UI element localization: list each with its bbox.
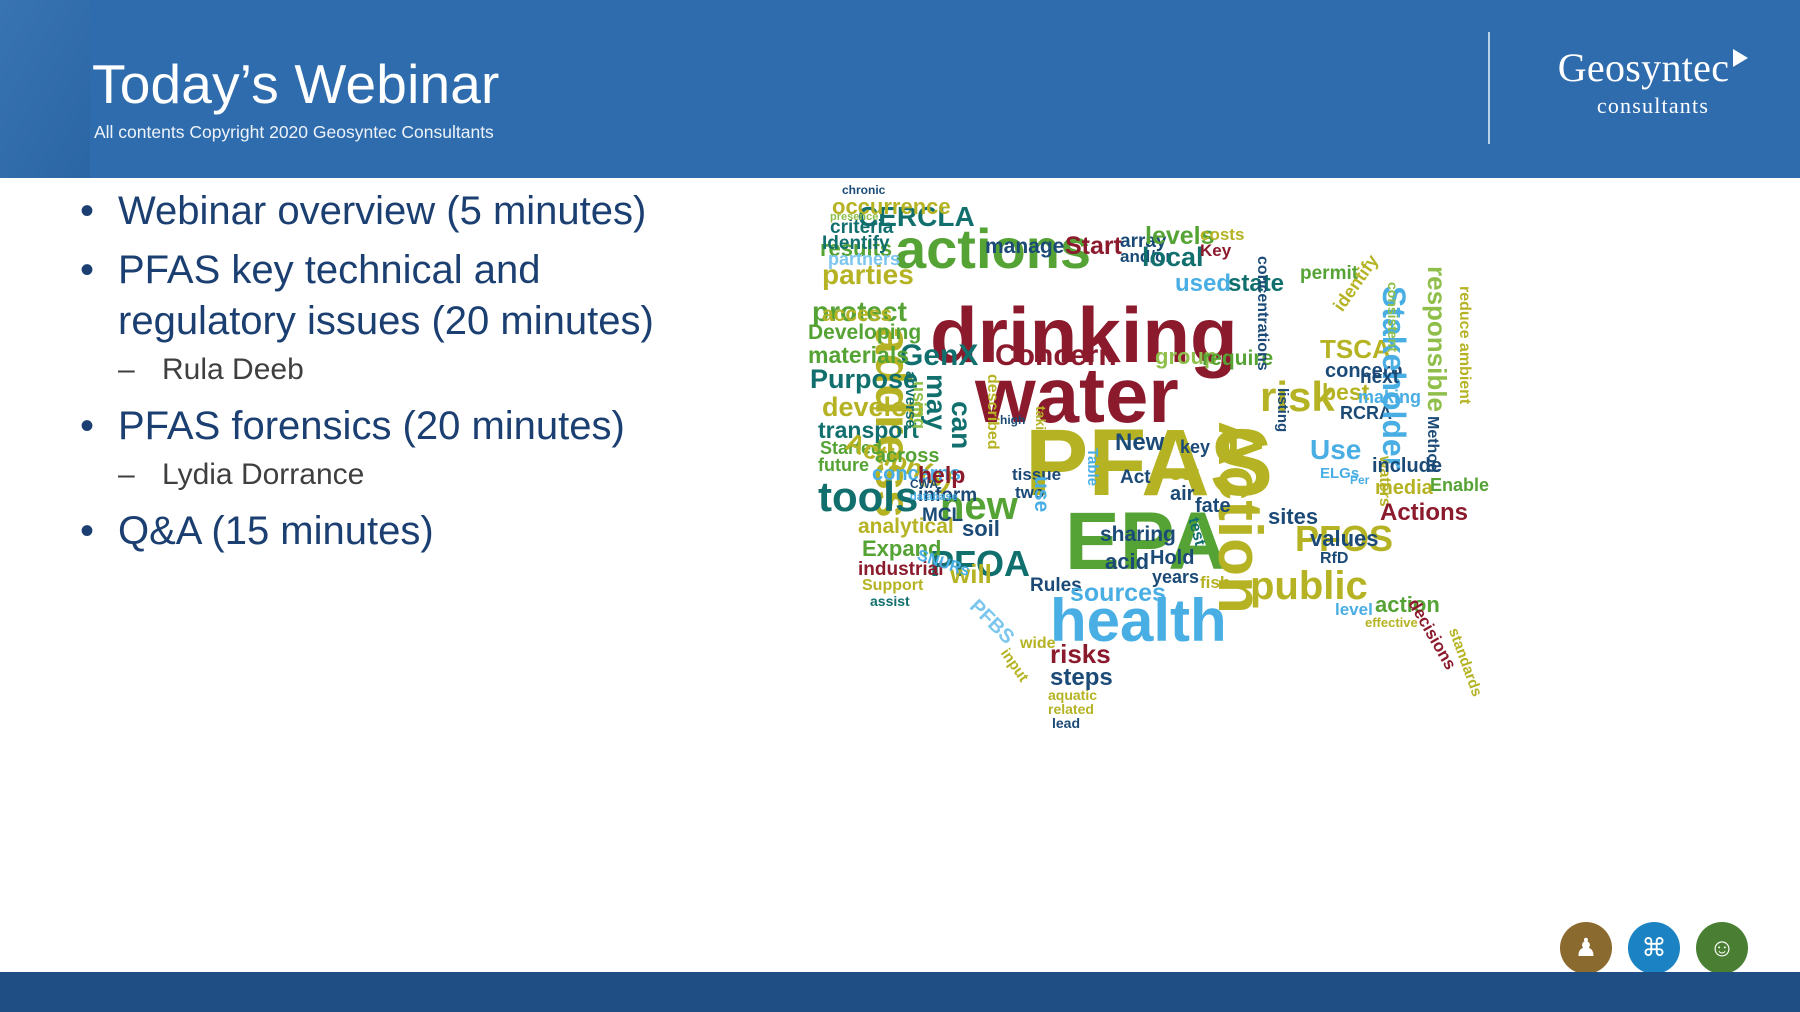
agenda-bullet: •PFAS key technical and regulatory issue… [72, 245, 722, 347]
word-cloud-term: Support [862, 578, 923, 594]
word-cloud-term: Table [1085, 448, 1100, 486]
word-cloud-term: related [1048, 702, 1094, 716]
word-cloud-term: wide [1020, 636, 1056, 652]
bullet-marker-icon: • [72, 186, 118, 237]
word-cloud-term: CWA [910, 478, 938, 490]
agenda-list: •Webinar overview (5 minutes)•PFAS key t… [72, 186, 722, 557]
agenda-bullet: •Q&A (15 minutes) [72, 506, 722, 557]
word-cloud-term: values [1310, 528, 1379, 550]
word-cloud-term: Enable [1430, 476, 1489, 494]
word-cloud-term: use [1031, 476, 1052, 512]
word-cloud-term: concentrations [1254, 256, 1270, 371]
word-cloud-term: RfD [1320, 551, 1348, 567]
word-cloud-term: Concern [995, 341, 1117, 371]
word-cloud-term: partners [828, 250, 900, 268]
word-cloud-term: consistent [1386, 282, 1400, 352]
word-cloud-term: used [1175, 272, 1231, 296]
word-cloud-term: reduce ambient [1456, 286, 1472, 404]
word-cloud-term: Key [1200, 242, 1231, 259]
word-cloud-term: adverse [903, 371, 918, 428]
logo-subtitle: consultants [1528, 93, 1778, 119]
word-cloud-term: key [1180, 438, 1210, 456]
word-cloud-term: media [1375, 478, 1433, 498]
word-cloud-term: chronic [842, 184, 885, 196]
word-cloud-term: described [984, 374, 1000, 450]
word-cloud-term: manage [985, 236, 1064, 257]
bullet-marker-icon: • [72, 506, 118, 557]
copyright-notice: All contents Copyright 2020 Geosyntec Co… [94, 122, 494, 143]
play-triangle-icon [1733, 49, 1748, 67]
word-cloud-term: next [1360, 368, 1399, 387]
agenda-bullet-label: Q&A (15 minutes) [118, 506, 722, 557]
word-cloud-term: database [910, 492, 958, 503]
sub-bullet-dash-icon: – [118, 349, 162, 391]
word-cloud-term: sites [1268, 506, 1318, 528]
word-cloud-term: lead [1052, 716, 1080, 730]
word-cloud-term: acid [1105, 551, 1149, 573]
bullet-marker-icon: • [72, 401, 118, 452]
word-cloud-term: include [1372, 456, 1442, 476]
agenda-bullet: •PFAS forensics (20 minutes) [72, 401, 722, 452]
person-badge-icon[interactable]: ♟ [1560, 922, 1612, 974]
header-gradient-streak [0, 0, 90, 178]
agenda-bullet-label: PFAS key technical and regulatory issues… [118, 245, 722, 347]
word-cloud-term: local [1142, 244, 1204, 271]
word-cloud-term: effective [1365, 616, 1418, 629]
word-cloud-term: Hold [1150, 548, 1194, 568]
word-cloud-term: set [1170, 464, 1199, 484]
agenda-bullet: •Webinar overview (5 minutes) [72, 186, 722, 237]
word-cloud-term: Act [1120, 468, 1151, 487]
agenda-bullet-label: PFAS forensics (20 minutes) [118, 401, 722, 452]
bullet-marker-icon: • [72, 245, 118, 296]
geosyntec-logo: Geosyntec consultants [1528, 44, 1778, 119]
word-cloud-term: fate [1195, 496, 1231, 516]
word-cloud-term: presence [830, 212, 878, 223]
word-cloud-term: sharing [1100, 524, 1176, 545]
presentation-slide: Today’s Webinar All contents Copyright 2… [0, 0, 1800, 1012]
word-cloud-term: fish [1200, 574, 1230, 591]
word-cloud-term: materials [808, 344, 909, 367]
word-cloud-term: responsible [1424, 266, 1450, 412]
word-cloud-term: access [822, 304, 892, 325]
sub-bullet-dash-icon: – [118, 454, 162, 496]
agenda-bullet-label: Webinar overview (5 minutes) [118, 186, 722, 237]
word-cloud-term: PFBS [966, 596, 1018, 648]
word-cloud-term: high [1000, 414, 1025, 426]
word-cloud-term: Per [1350, 474, 1369, 486]
word-cloud-term: air [1170, 484, 1194, 504]
word-cloud-term: assist [870, 594, 910, 608]
word-cloud-term: Actions [1380, 501, 1468, 525]
status-tray: ♟⌘☺ [1560, 922, 1748, 974]
word-cloud-term: sources [1070, 581, 1166, 606]
word-cloud-term: aquatic [1048, 688, 1097, 702]
word-cloud-term: listing [1275, 388, 1290, 432]
word-cloud-term: can [947, 401, 975, 449]
brain-icon[interactable]: ☺ [1696, 922, 1748, 974]
pfas-word-cloud-usmap: drinkingwaterPFASEPAactionshealthActiona… [800, 176, 1740, 736]
logo-divider [1488, 32, 1490, 144]
agenda-sub-bullet-label: Lydia Dorrance [162, 454, 722, 496]
word-cloud-term: soil [962, 518, 1000, 540]
network-icon[interactable]: ⌘ [1628, 922, 1680, 974]
logo-wordmark: Geosyntec [1558, 44, 1749, 91]
word-cloud-term: Start [1065, 234, 1122, 259]
agenda-sub-bullet: –Rula Deeb [72, 349, 722, 391]
word-cloud-term: New [1115, 431, 1164, 455]
word-cloud-term: taking [1034, 406, 1048, 447]
slide-footer-bar [0, 972, 1800, 1012]
slide-header: Today’s Webinar All contents Copyright 2… [0, 0, 1800, 178]
agenda-sub-bullet-label: Rula Deeb [162, 349, 722, 391]
word-cloud-term: making [1358, 388, 1421, 406]
page-title: Today’s Webinar [92, 52, 500, 116]
word-cloud-term: MCL [922, 506, 963, 525]
logo-wordmark-text: Geosyntec [1558, 45, 1730, 90]
agenda-sub-bullet: –Lydia Dorrance [72, 454, 722, 496]
word-cloud-term: Use [1310, 436, 1361, 464]
